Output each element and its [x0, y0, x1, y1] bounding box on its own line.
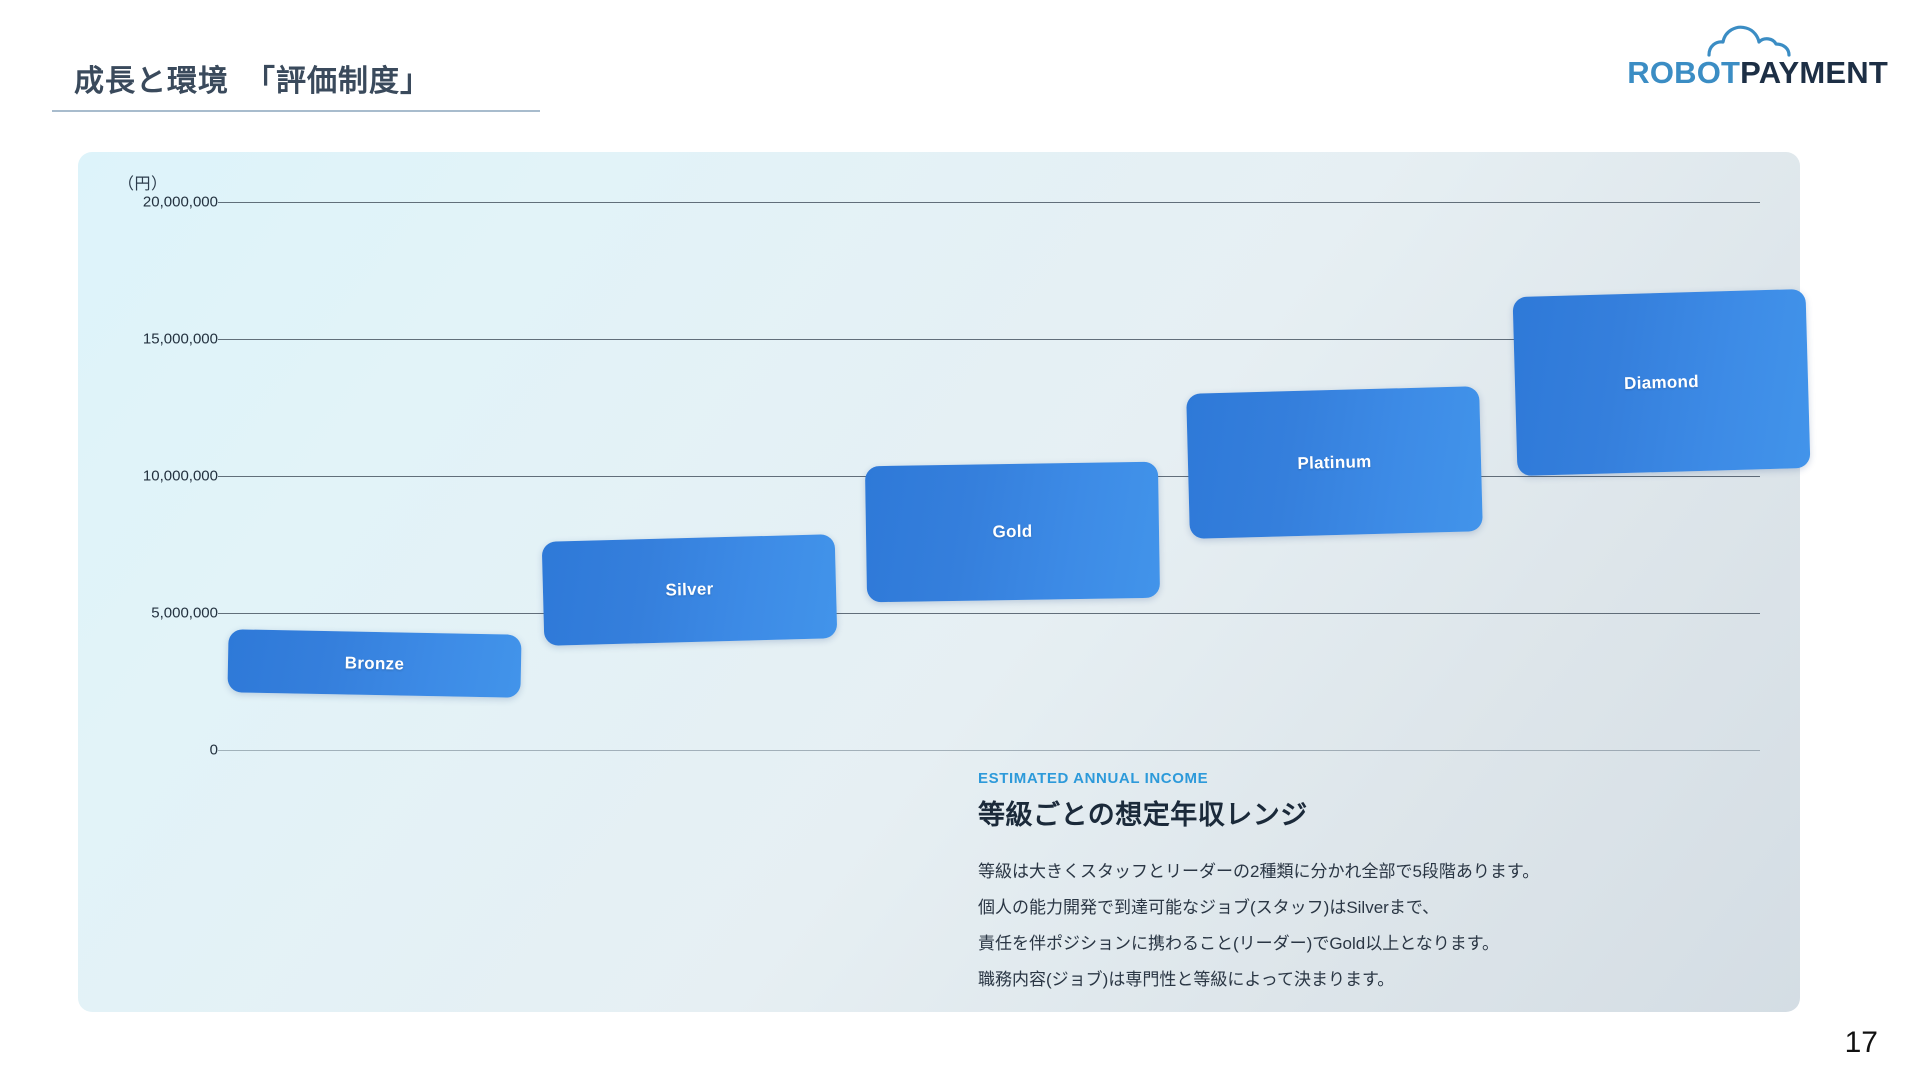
y-tick-label: 20,000,000	[98, 194, 218, 211]
salary-range-chart: （円） 20,000,000 15,000,000 10,000,000 5,0…	[78, 152, 1800, 1012]
y-tick-label: 0	[98, 742, 218, 759]
bar-label: Bronze	[345, 653, 405, 674]
caption-block: ESTIMATED ANNUAL INCOME 等級ごとの想定年収レンジ 等級は…	[978, 770, 1768, 998]
caption-line: 個人の能力開発で到達可能なジョブ(スタッフ)はSilverまで、	[978, 890, 1768, 926]
bar-platinum[interactable]: Platinum	[1186, 386, 1483, 539]
title-underline	[52, 110, 540, 112]
cloud-icon	[1706, 22, 1792, 58]
caption-heading: 等級ごとの想定年収レンジ	[978, 793, 1768, 832]
page-title: 成長と環境 「評価制度」	[74, 56, 431, 100]
bar-label: Platinum	[1297, 452, 1372, 474]
page-number: 17	[1845, 1026, 1878, 1060]
gridline-0	[218, 750, 1760, 751]
bar-gold[interactable]: Gold	[865, 462, 1160, 603]
caption-line: 職務内容(ジョブ)は専門性と等級によって決まります。	[978, 962, 1768, 998]
gridline-20m	[218, 202, 1760, 203]
slide: 成長と環境 「評価制度」 ROBOTPAYMENT （円） 20,000,000…	[0, 0, 1920, 1080]
company-logo: ROBOTPAYMENT	[1620, 22, 1888, 96]
logo-wordmark: ROBOTPAYMENT	[1620, 55, 1888, 91]
y-tick-label: 15,000,000	[98, 331, 218, 348]
caption-body: 等級は大きくスタッフとリーダーの2種類に分かれ全部で5段階あります。 個人の能力…	[978, 854, 1768, 998]
caption-eyebrow: ESTIMATED ANNUAL INCOME	[978, 770, 1768, 787]
y-tick-label: 5,000,000	[98, 605, 218, 622]
bar-bronze[interactable]: Bronze	[227, 629, 521, 698]
y-axis-unit-label: （円）	[118, 170, 168, 194]
chart-panel: （円） 20,000,000 15,000,000 10,000,000 5,0…	[78, 152, 1800, 1012]
y-tick-label: 10,000,000	[98, 468, 218, 485]
logo-text-robot: ROBOT	[1627, 55, 1740, 90]
logo-text-payment: PAYMENT	[1740, 55, 1888, 90]
bar-silver[interactable]: Silver	[542, 534, 838, 646]
caption-line: 等級は大きくスタッフとリーダーの2種類に分かれ全部で5段階あります。	[978, 854, 1768, 890]
gridline-5m	[218, 613, 1760, 614]
bar-label: Silver	[665, 579, 714, 600]
bar-label: Diamond	[1624, 371, 1699, 393]
caption-line: 責任を伴ポジションに携わること(リーダー)でGold以上となります。	[978, 926, 1768, 962]
bar-label: Gold	[992, 522, 1032, 543]
bar-diamond[interactable]: Diamond	[1513, 289, 1811, 476]
